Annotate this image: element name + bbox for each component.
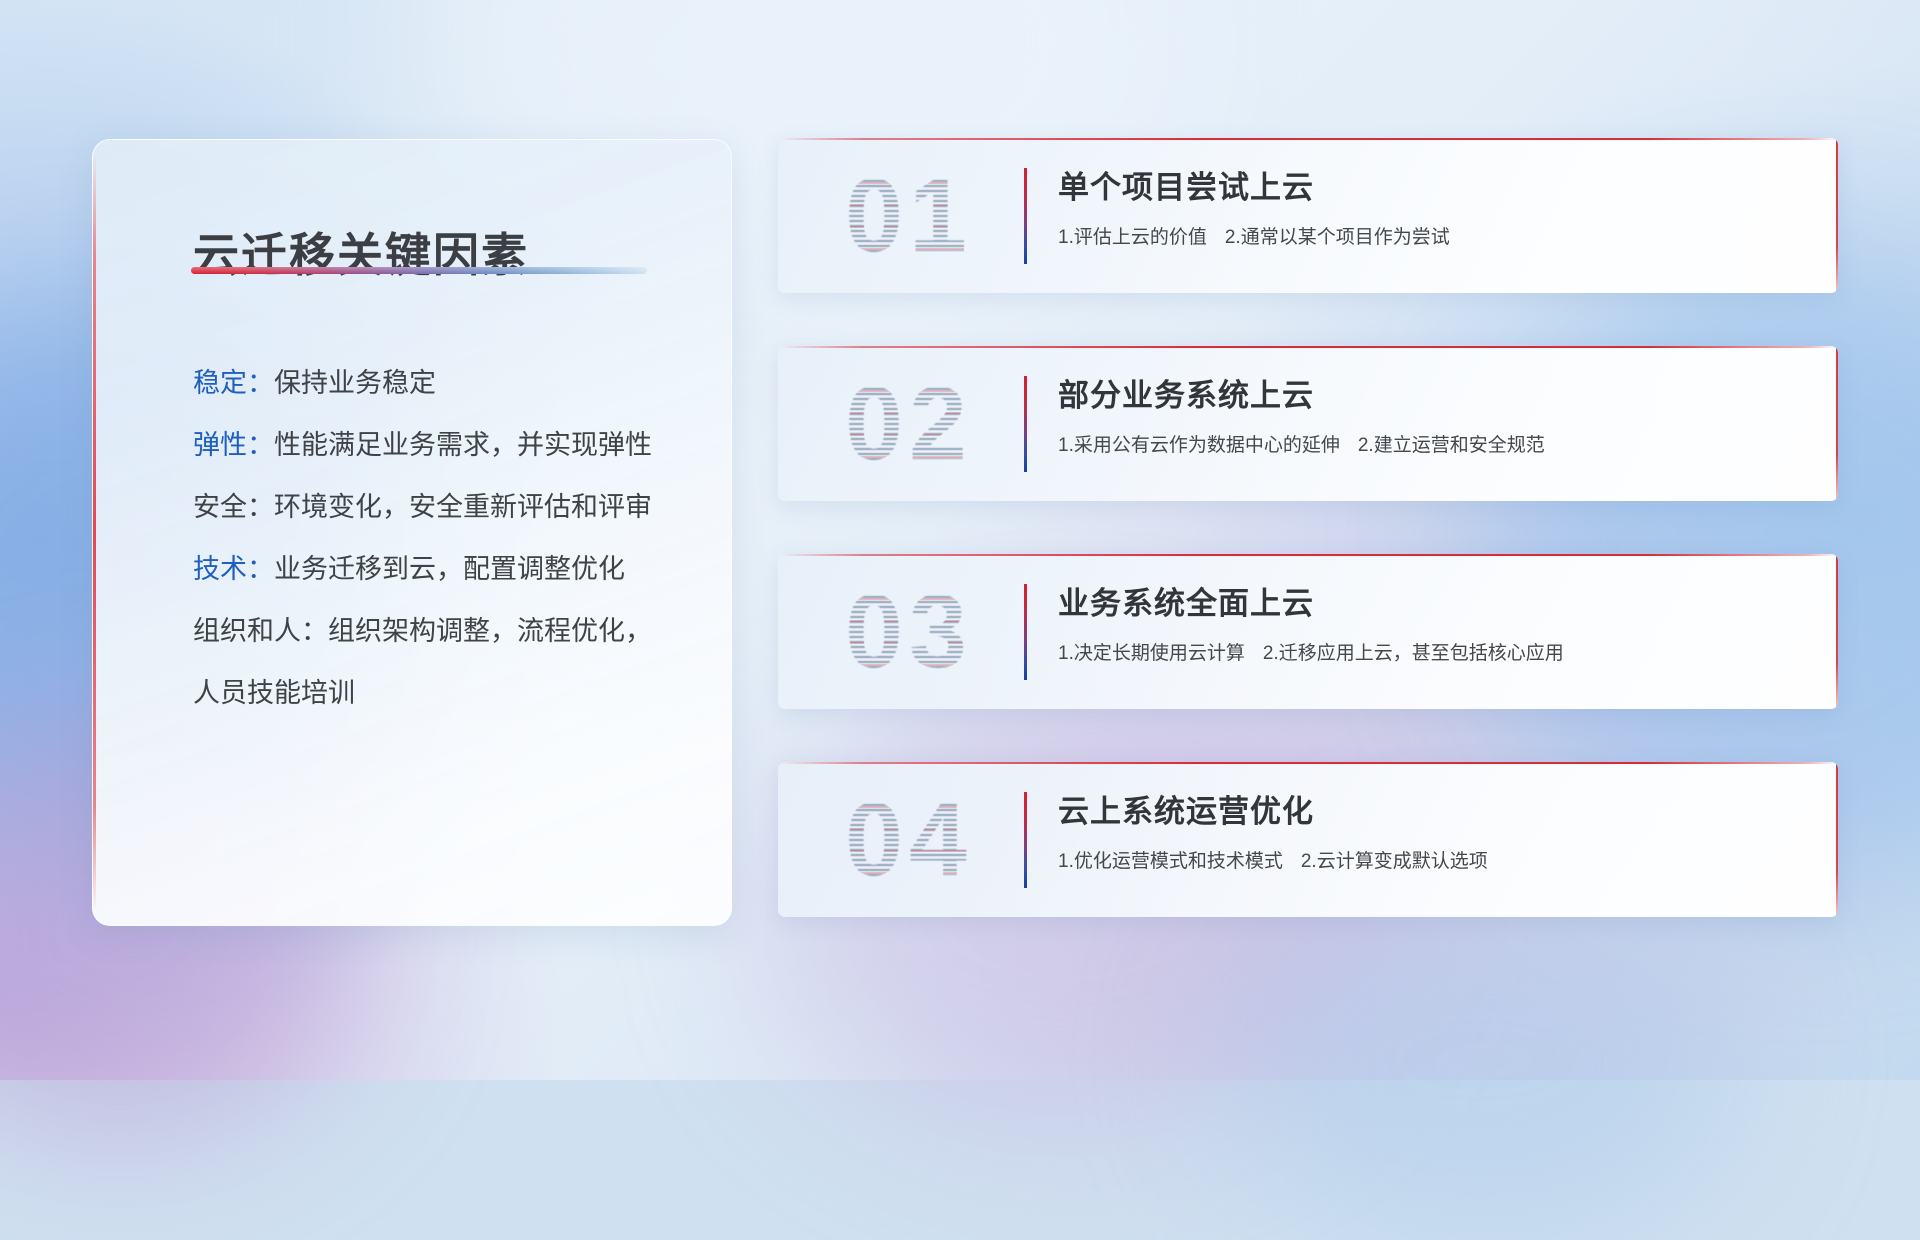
- stage-number-04: 04: [814, 784, 1004, 896]
- stage-number-01: 01: [814, 160, 1004, 272]
- card-title: 部分业务系统上云: [1058, 374, 1808, 418]
- factor-item-security: 安全：环境变化，安全重新评估和评审: [193, 476, 691, 538]
- factor-label: 安全：: [193, 492, 274, 522]
- card-description-part-2: 2.建立运营和安全规范: [1358, 435, 1545, 456]
- stage-card-list: 01 01 单个项目尝试上云 1.评估上云的价值2.通常以某个项目作为尝试 02…: [778, 138, 1838, 970]
- card-divider-accent: [1024, 376, 1027, 472]
- card-description-part-1: 1.优化运营模式和技术模式: [1058, 851, 1283, 872]
- factor-body: 业务迁移到云，配置调整优化: [274, 554, 625, 584]
- factor-item-technology: 技术：业务迁移到云，配置调整优化: [193, 538, 691, 600]
- key-factors-panel: 云迁移关键因素 稳定：保持业务稳定 弹性：性能满足业务需求，并实现弹性 安全：环…: [92, 139, 732, 926]
- factor-list: 稳定：保持业务稳定 弹性：性能满足业务需求，并实现弹性 安全：环境变化，安全重新…: [193, 352, 691, 724]
- factor-body: 人员技能培训: [193, 678, 355, 708]
- card-title: 单个项目尝试上云: [1058, 166, 1808, 210]
- factor-item-stability: 稳定：保持业务稳定: [193, 352, 691, 414]
- card-divider-accent: [1024, 792, 1027, 888]
- stage-number-02: 02: [814, 368, 1004, 480]
- card-description: 1.采用公有云作为数据中心的延伸2.建立运营和安全规范: [1058, 432, 1808, 460]
- stage-card-01[interactable]: 01 01 单个项目尝试上云 1.评估上云的价值2.通常以某个项目作为尝试: [778, 138, 1838, 293]
- card-description: 1.优化运营模式和技术模式2.云计算变成默认选项: [1058, 848, 1808, 876]
- card-body: 部分业务系统上云 1.采用公有云作为数据中心的延伸2.建立运营和安全规范: [1058, 374, 1808, 460]
- card-description-part-2: 2.云计算变成默认选项: [1301, 851, 1488, 872]
- card-body: 业务系统全面上云 1.决定长期使用云计算2.迁移应用上云，甚至包括核心应用: [1058, 582, 1808, 668]
- card-description-part-1: 1.评估上云的价值: [1058, 227, 1207, 248]
- card-description-part-2: 2.迁移应用上云，甚至包括核心应用: [1263, 643, 1564, 664]
- card-divider-accent: [1024, 168, 1027, 264]
- factor-item-elasticity: 弹性：性能满足业务需求，并实现弹性: [193, 414, 691, 476]
- stage-number-03: 03: [814, 576, 1004, 688]
- factor-label: 稳定：: [193, 368, 274, 398]
- factor-label: 弹性：: [193, 430, 274, 460]
- factor-body: 保持业务稳定: [274, 368, 436, 398]
- card-description: 1.决定长期使用云计算2.迁移应用上云，甚至包括核心应用: [1058, 640, 1808, 668]
- card-divider-accent: [1024, 584, 1027, 680]
- page-title: 云迁移关键因素: [193, 219, 529, 285]
- card-description: 1.评估上云的价值2.通常以某个项目作为尝试: [1058, 224, 1808, 252]
- card-description-part-2: 2.通常以某个项目作为尝试: [1225, 227, 1450, 248]
- card-description-part-1: 1.决定长期使用云计算: [1058, 643, 1245, 664]
- factor-body: 环境变化，安全重新评估和评审: [274, 492, 652, 522]
- stage-card-02[interactable]: 02 02 部分业务系统上云 1.采用公有云作为数据中心的延伸2.建立运营和安全…: [778, 346, 1838, 501]
- stage-card-03[interactable]: 03 03 业务系统全面上云 1.决定长期使用云计算2.迁移应用上云，甚至包括核…: [778, 554, 1838, 709]
- card-title: 业务系统全面上云: [1058, 582, 1808, 626]
- card-description-part-1: 1.采用公有云作为数据中心的延伸: [1058, 435, 1340, 456]
- card-body: 单个项目尝试上云 1.评估上云的价值2.通常以某个项目作为尝试: [1058, 166, 1808, 252]
- factor-body: 组织架构调整，流程优化，: [328, 616, 652, 646]
- card-body: 云上系统运营优化 1.优化运营模式和技术模式2.云计算变成默认选项: [1058, 790, 1808, 876]
- factor-label: 技术：: [193, 554, 274, 584]
- stage-card-04[interactable]: 04 04 云上系统运营优化 1.优化运营模式和技术模式2.云计算变成默认选项: [778, 762, 1838, 917]
- factor-item-organization-continued: 人员技能培训: [193, 662, 691, 724]
- factor-body: 性能满足业务需求，并实现弹性: [274, 430, 652, 460]
- factor-item-organization: 组织和人：组织架构调整，流程优化，: [193, 600, 691, 662]
- slide-stage: 云迁移关键因素 稳定：保持业务稳定 弹性：性能满足业务需求，并实现弹性 安全：环…: [0, 0, 1920, 1080]
- factor-label: 组织和人：: [193, 616, 328, 646]
- card-title: 云上系统运营优化: [1058, 790, 1808, 834]
- title-underline-accent: [191, 267, 647, 274]
